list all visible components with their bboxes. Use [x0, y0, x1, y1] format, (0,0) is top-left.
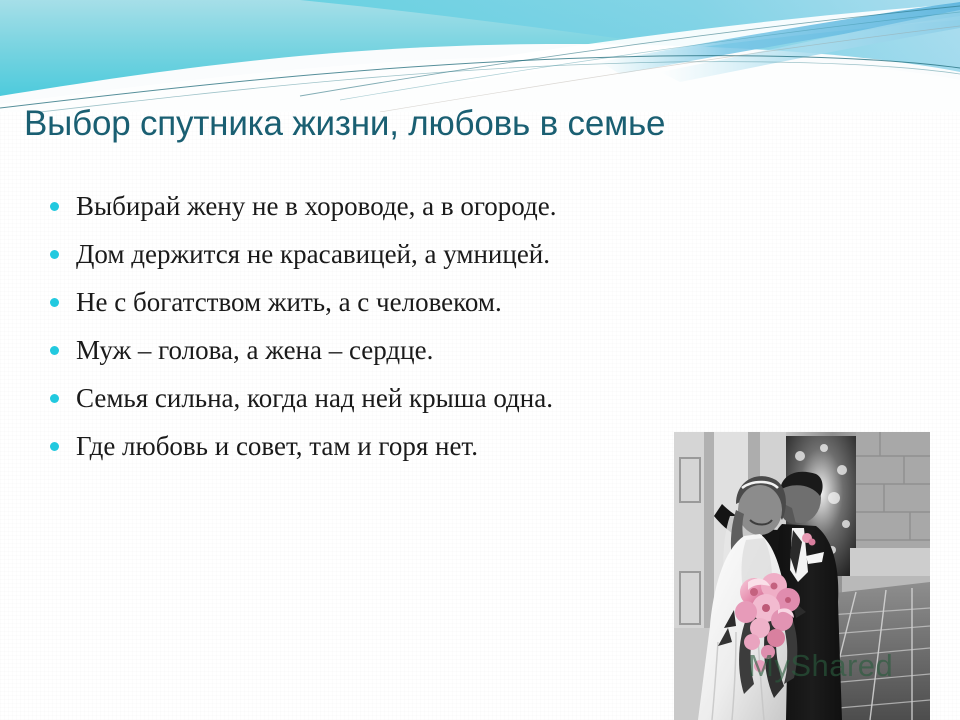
list-item: Где любовь и совет, там и горя нет. [50, 422, 750, 470]
bullet-dot-icon [50, 442, 59, 451]
header-wave-decoration [0, 0, 960, 112]
list-item: Семья сильна, когда над ней крыша одна. [50, 374, 750, 422]
presentation-slide: Выбор спутника жизни, любовь в семье Выб… [0, 0, 960, 720]
list-item: Дом держится не красавицей, а умницей. [50, 230, 750, 278]
bullet-dot-icon [50, 298, 59, 307]
bullet-dot-icon [50, 250, 59, 259]
bullet-dot-icon [50, 346, 59, 355]
bullet-dot-icon [50, 202, 59, 211]
bullet-dot-icon [50, 394, 59, 403]
proverb-bullet-list: Выбирай жену не в хороводе, а в огороде.… [50, 182, 750, 470]
list-item-label: Выбирай жену не в хороводе, а в огороде. [76, 182, 557, 230]
list-item: Не с богатством жить, а с человеком. [50, 278, 750, 326]
list-item: Выбирай жену не в хороводе, а в огороде. [50, 182, 750, 230]
list-item-label: Дом держится не красавицей, а умницей. [76, 230, 550, 278]
page-title: Выбор спутника жизни, любовь в семье [24, 102, 940, 146]
list-item-label: Не с богатством жить, а с человеком. [76, 278, 502, 326]
list-item: Муж – голова, а жена – сердце. [50, 326, 750, 374]
list-item-label: Семья сильна, когда над ней крыша одна. [76, 374, 553, 422]
list-item-label: Муж – голова, а жена – сердце. [76, 326, 433, 374]
wedding-photo [674, 432, 930, 720]
list-item-label: Где любовь и совет, там и горя нет. [76, 422, 478, 470]
